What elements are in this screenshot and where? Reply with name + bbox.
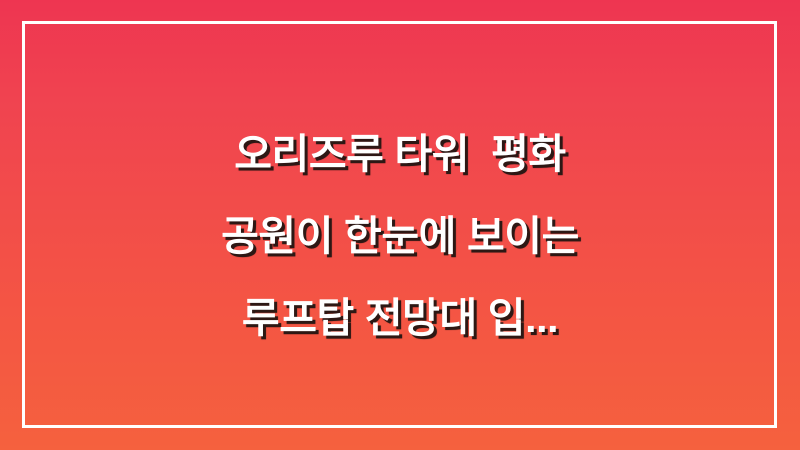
headline-line-1: 오리즈루 타워 평화 (46, 113, 754, 195)
headline-line-3: 루프탑 전망대 입... (46, 277, 754, 359)
headline-block: 오리즈루 타워 평화 공원이 한눈에 보이는 루프탑 전망대 입... (0, 113, 800, 359)
promo-card: 오리즈루 타워 평화 공원이 한눈에 보이는 루프탑 전망대 입... (0, 0, 800, 450)
headline-line-2: 공원이 한눈에 보이는 (46, 195, 754, 277)
